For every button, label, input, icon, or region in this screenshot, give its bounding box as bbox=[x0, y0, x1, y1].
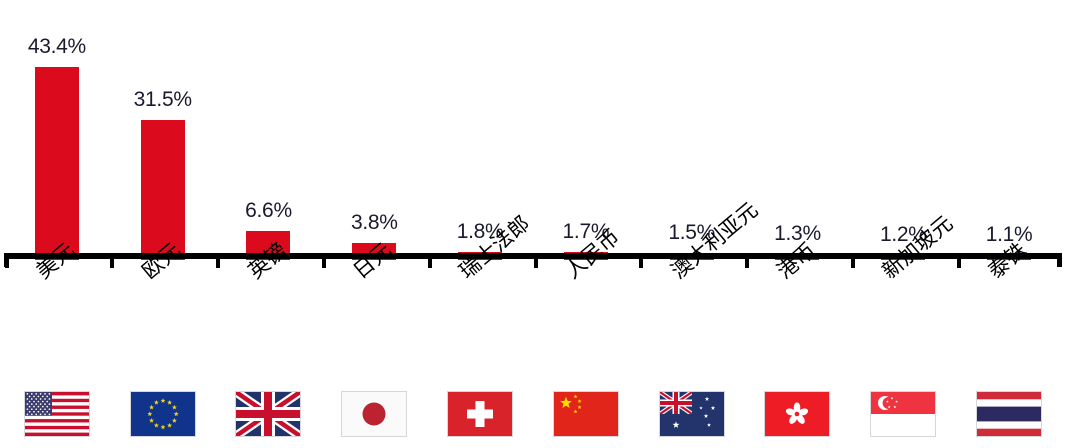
bar bbox=[35, 67, 79, 260]
flag-cell bbox=[110, 391, 216, 443]
gb-flag bbox=[236, 392, 300, 436]
bar-column: 1.1% bbox=[956, 7, 1062, 260]
x-axis-tick bbox=[5, 259, 9, 268]
bar-value-label: 3.8% bbox=[351, 211, 398, 235]
th-flag bbox=[977, 392, 1041, 436]
hk-flag bbox=[765, 392, 829, 436]
flag-cell bbox=[956, 391, 1062, 443]
bar-column: 6.6% bbox=[216, 7, 322, 260]
category-labels: 美元欧元英镑日元瑞士法郎人民币澳大利亚元港币新加坡元泰铢 bbox=[0, 262, 1066, 380]
sg-flag bbox=[871, 392, 935, 436]
x-axis-tick bbox=[745, 259, 749, 268]
bar-chart: 43.4%31.5%6.6%3.8%1.8%1.7%1.5%1.3%1.2%1.… bbox=[0, 0, 1066, 448]
x-axis-tick bbox=[216, 259, 220, 268]
flag-cell bbox=[216, 391, 322, 443]
us-flag bbox=[25, 392, 89, 436]
cn-flag bbox=[554, 392, 618, 436]
x-axis-tick bbox=[851, 259, 855, 268]
x-axis-tick bbox=[534, 259, 538, 268]
x-axis-tick bbox=[957, 259, 961, 268]
flag-cell bbox=[533, 391, 639, 443]
flag-cell bbox=[4, 391, 110, 443]
x-axis-tick bbox=[110, 259, 114, 268]
bar-column: 1.7% bbox=[533, 7, 639, 260]
plot-area: 43.4%31.5%6.6%3.8%1.8%1.7%1.5%1.3%1.2%1.… bbox=[0, 0, 1066, 260]
flag-cell bbox=[745, 391, 851, 443]
bar-value-label: 6.6% bbox=[245, 199, 292, 223]
bar-column: 31.5% bbox=[110, 7, 216, 260]
bar-column: 3.8% bbox=[321, 7, 427, 260]
x-axis-tick bbox=[322, 259, 326, 268]
au-flag bbox=[660, 392, 724, 436]
flag-cell bbox=[850, 391, 956, 443]
eu-flag bbox=[131, 392, 195, 436]
bar-column: 43.4% bbox=[4, 7, 110, 260]
bar-value-label: 43.4% bbox=[28, 35, 86, 59]
x-axis-tick bbox=[428, 259, 432, 268]
x-axis-tick bbox=[639, 259, 643, 268]
flag-cell bbox=[639, 391, 745, 443]
flag-row bbox=[0, 391, 1066, 443]
jp-flag bbox=[342, 392, 406, 436]
bar-column: 1.3% bbox=[745, 7, 851, 260]
flag-cell bbox=[321, 391, 427, 443]
bar-value-label: 31.5% bbox=[134, 88, 192, 112]
ch-flag bbox=[448, 392, 512, 436]
flag-cell bbox=[427, 391, 533, 443]
